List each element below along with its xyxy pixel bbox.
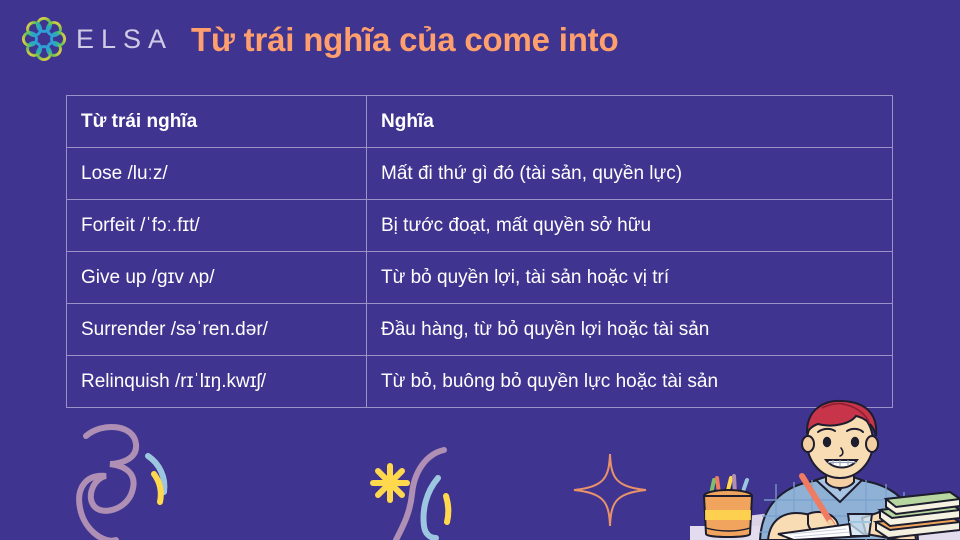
cell-term: Forfeit /ˈfɔː.fɪt/ xyxy=(67,200,367,252)
cell-meaning: Bị tước đoạt, mất quyền sở hữu xyxy=(367,200,893,252)
table-row: Surrender /səˈren.dər/ Đầu hàng, từ bỏ q… xyxy=(67,304,893,356)
column-header-term: Từ trái nghĩa xyxy=(67,96,367,148)
slide-header: ELSA Từ trái nghĩa của come into xyxy=(18,10,618,68)
elsa-star-logo-icon xyxy=(18,13,70,65)
table-header-row: Từ trái nghĩa Nghĩa xyxy=(67,96,893,148)
cell-meaning: Đầu hàng, từ bỏ quyền lợi hoặc tài sản xyxy=(367,304,893,356)
four-point-sparkle-icon xyxy=(566,446,654,534)
table-row: Forfeit /ˈfɔː.fɪt/ Bị tước đoạt, mất quy… xyxy=(67,200,893,252)
table-row: Give up /ɡɪv ʌp/ Từ bỏ quyền lợi, tài sả… xyxy=(67,252,893,304)
cell-term: Give up /ɡɪv ʌp/ xyxy=(67,252,367,304)
table-row: Lose /luːz/ Mất đi thứ gì đó (tài sản, q… xyxy=(67,148,893,200)
slide-canvas: ELSA Từ trái nghĩa của come into Từ trái… xyxy=(0,0,960,540)
page-title: Từ trái nghĩa của come into xyxy=(191,23,618,56)
sprout-asterisk-icon xyxy=(352,438,512,540)
cell-meaning: Mất đi thứ gì đó (tài sản, quyền lực) xyxy=(367,148,893,200)
student-writing-illustration xyxy=(690,398,960,540)
cell-meaning: Từ bỏ quyền lợi, tài sản hoặc vị trí xyxy=(367,252,893,304)
cell-term: Surrender /səˈren.dər/ xyxy=(67,304,367,356)
antonyms-table: Từ trái nghĩa Nghĩa Lose /luːz/ Mất đi t… xyxy=(66,95,893,408)
elsa-wordmark: ELSA xyxy=(76,24,173,55)
column-header-meaning: Nghĩa xyxy=(367,96,893,148)
squiggle-left-icon xyxy=(72,412,292,540)
cell-term: Relinquish /rɪˈlɪŋ.kwɪʃ/ xyxy=(67,356,367,408)
cell-term: Lose /luːz/ xyxy=(67,148,367,200)
